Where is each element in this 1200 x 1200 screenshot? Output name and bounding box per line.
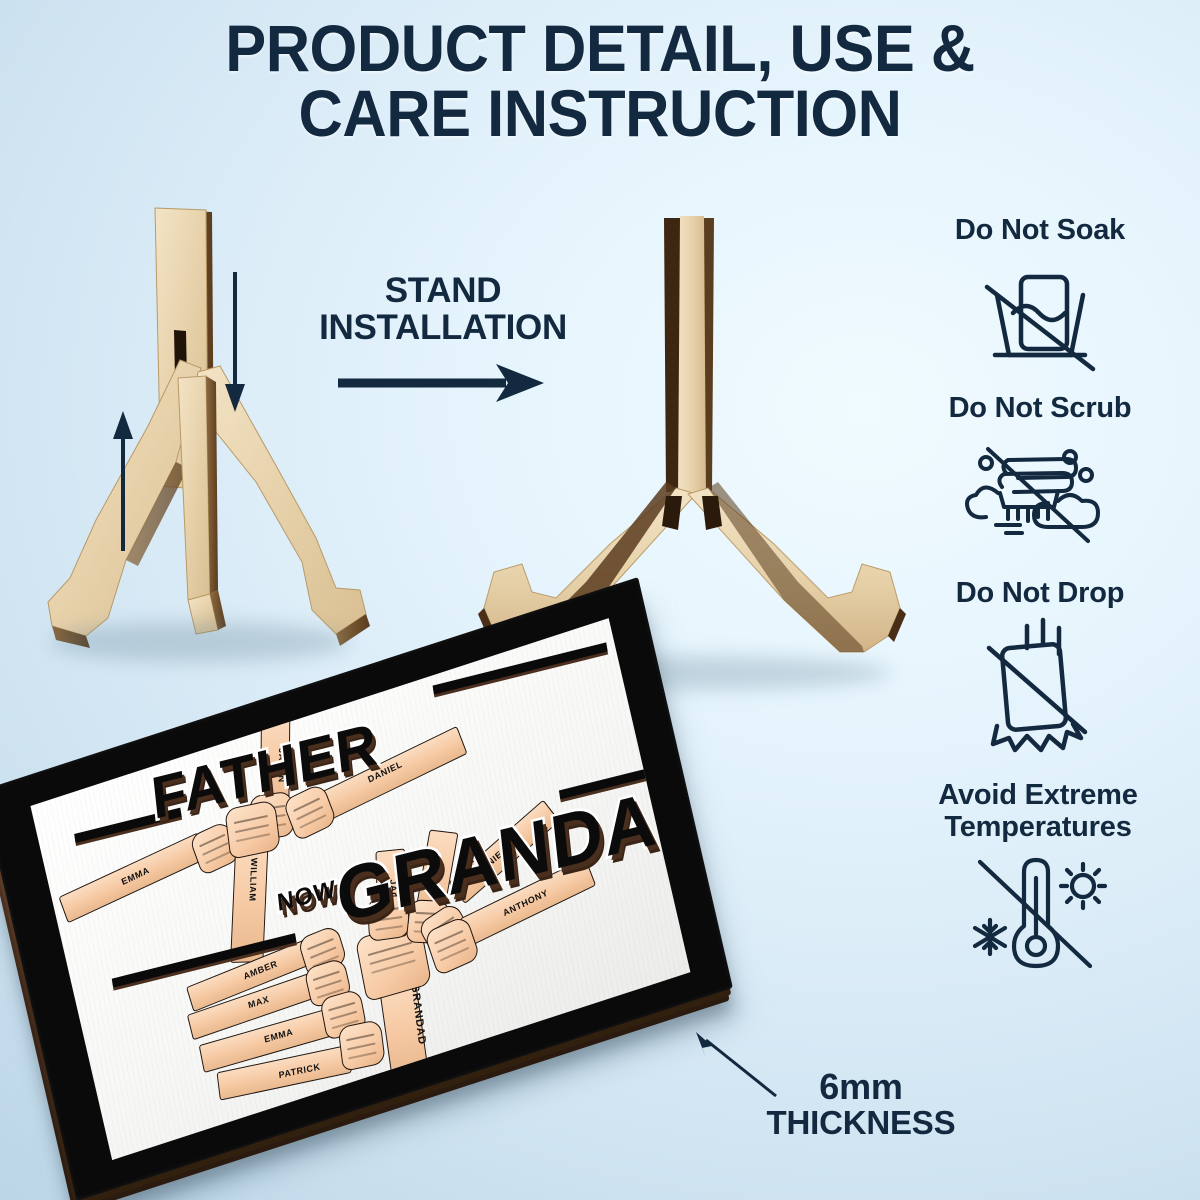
care-item-do-not-drop: Do Not Drop: [890, 578, 1190, 764]
arrow-down-icon: [220, 270, 250, 415]
exploded-stand-svg: [30, 190, 380, 690]
fist-patrick: [338, 1019, 386, 1072]
care-item-label: Do Not Soak: [890, 215, 1190, 247]
no-soak-icon: [890, 251, 1190, 381]
thickness-text: THICKNESS: [746, 1106, 976, 1141]
page-title-line-1: PRODUCT DETAIL, USE &: [225, 11, 975, 85]
page-title-line-2: CARE INSTRUCTION: [42, 81, 1158, 146]
exploded-stand-illustration: [30, 190, 380, 690]
care-item-label: Avoid Extreme Temperatures: [888, 780, 1188, 844]
thickness-value: 6mm: [819, 1066, 902, 1107]
thickness-callout-label: 6mm THICKNESS: [746, 1068, 976, 1141]
arrow-up-icon: [108, 408, 138, 553]
no-extreme-temperature-icon: [888, 848, 1188, 973]
care-item-do-not-soak: Do Not Soak: [890, 215, 1190, 381]
arm-name-label: WILLIAM: [247, 858, 259, 902]
care-item-label: Do Not Drop: [890, 578, 1190, 610]
no-drop-icon: [890, 614, 1190, 764]
plaque-headline-now: NOW: [276, 877, 338, 919]
no-scrub-icon: [890, 429, 1190, 549]
headline-bar-right: [433, 642, 608, 694]
care-item-label: Do Not Scrub: [890, 393, 1190, 425]
care-item-do-not-scrub: Do Not Scrub: [890, 393, 1190, 549]
care-item-avoid-extreme-temperatures: Avoid Extreme Temperatures: [888, 780, 1188, 973]
infographic-canvas: PRODUCT DETAIL, USE & CARE INSTRUCTION: [0, 0, 1200, 1200]
page-title: PRODUCT DETAIL, USE & CARE INSTRUCTION: [42, 16, 1158, 145]
stand-shadow: [50, 622, 350, 662]
plaque-white-board: EMMA JASON DANIEL WILLIAM AMBER: [30, 618, 690, 1160]
